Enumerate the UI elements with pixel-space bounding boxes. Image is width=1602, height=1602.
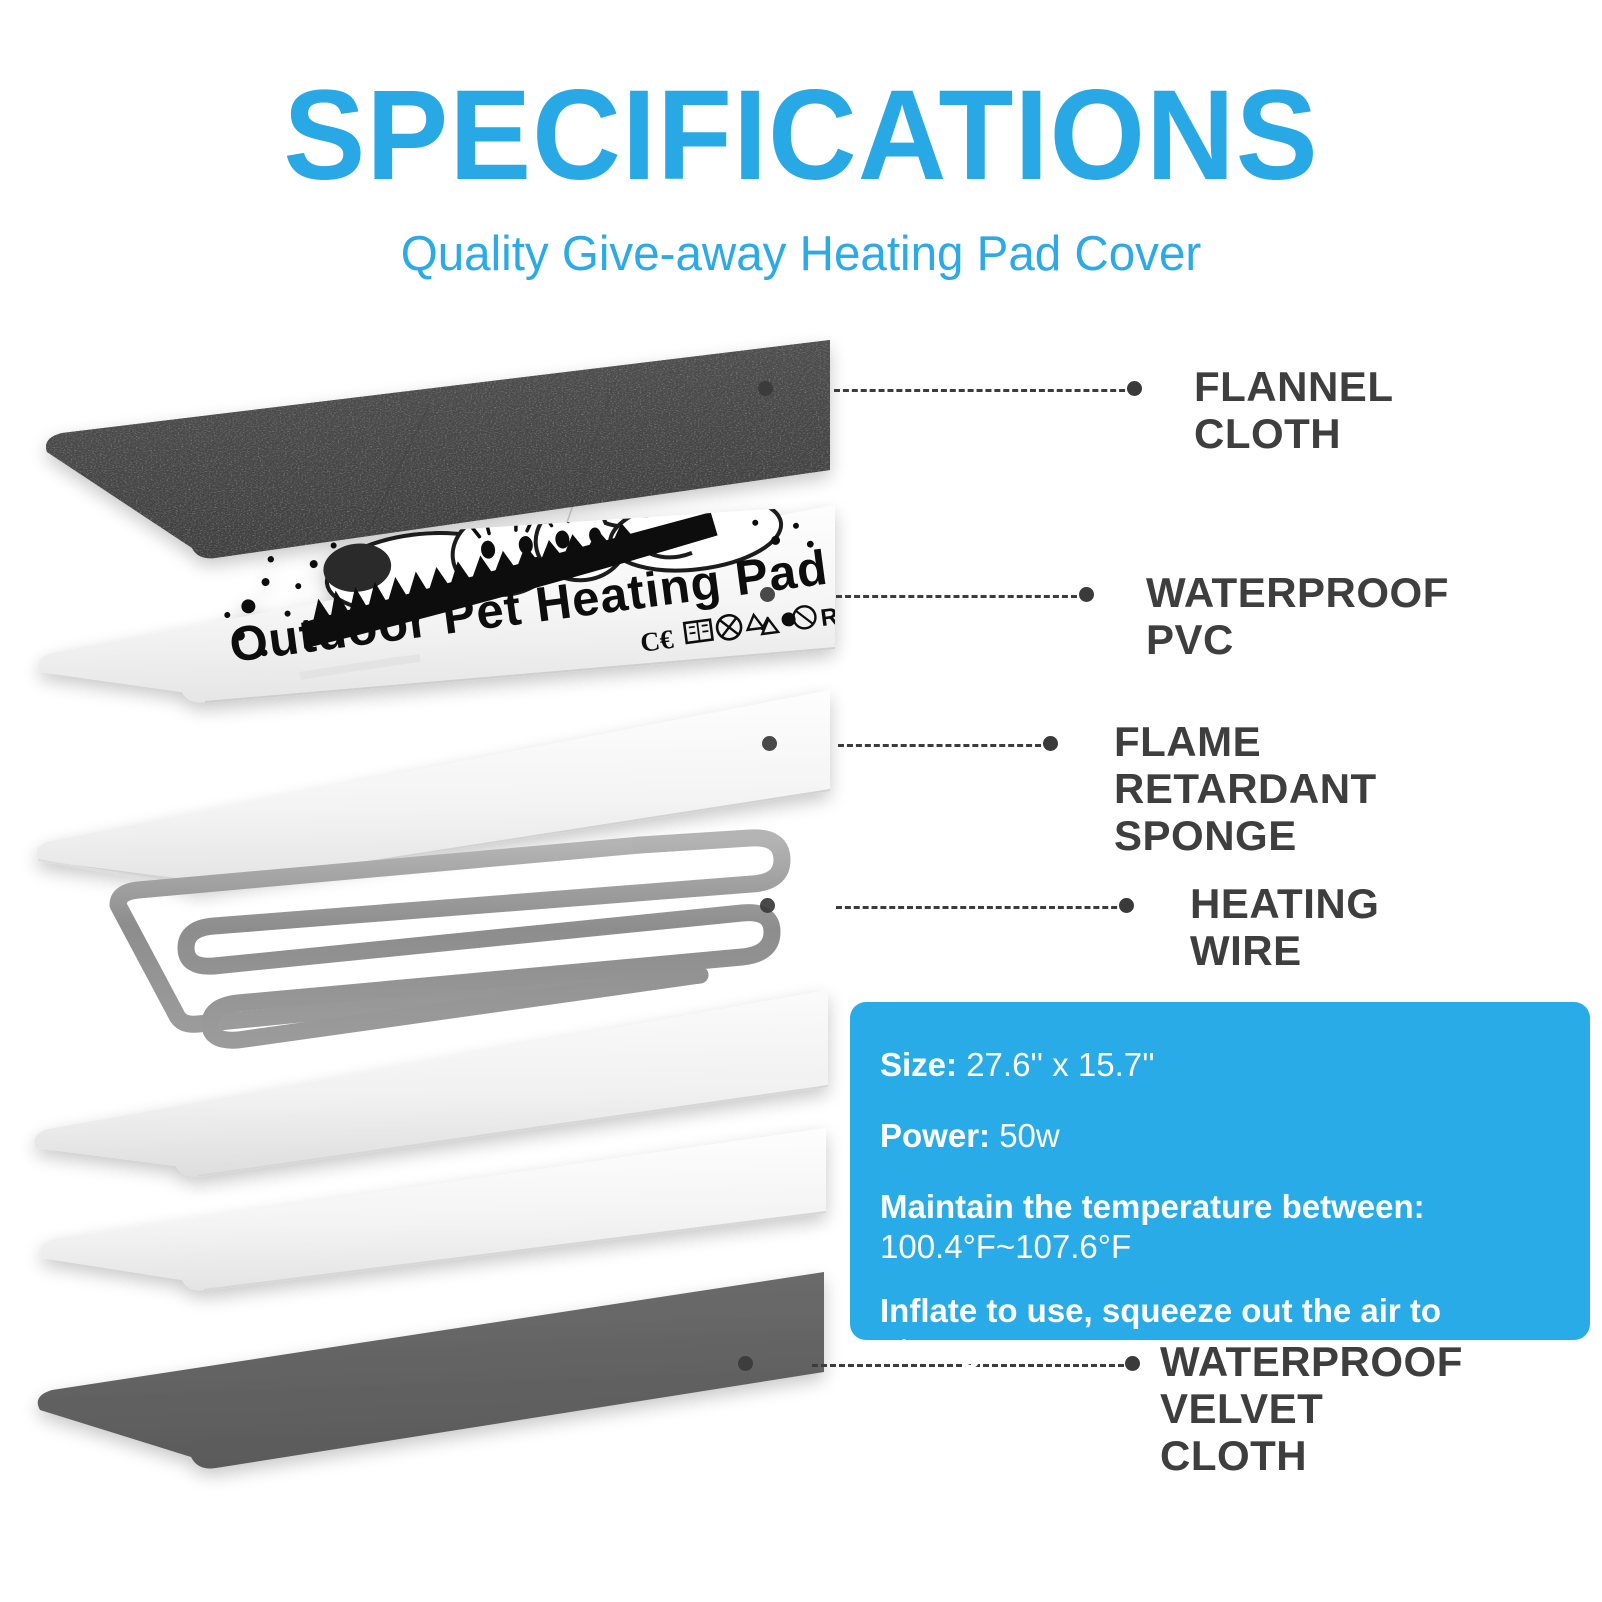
spec-size-value: 27.6'' x 15.7'' [966,1046,1155,1083]
leader-line [836,595,1086,598]
spec-power-value: 50w [999,1117,1060,1154]
leader-dot-source [758,381,773,396]
spec-size-label: Size: [880,1046,957,1083]
specification-infographic: SPECIFICATIONS Quality Give-away Heating… [0,0,1602,1602]
leader-line [838,744,1050,747]
leader-dot-end [1119,898,1134,913]
layer-waterproof-velvet-cloth [38,1272,824,1469]
leader-dot-end [1079,587,1094,602]
leader-dot-source [738,1356,753,1371]
callout-label-waterproof-pvc: WATERPROOF PVC [1146,569,1449,663]
callout-label-flame-retardant-sponge: FLAME RETARDANT SPONGE [1114,718,1377,859]
leader-dot-end [1043,736,1058,751]
leader-dot-source [760,587,775,602]
leader-dot-end [1127,381,1142,396]
svg-text:C€: C€ [638,624,675,658]
leader-dot-source [760,898,775,913]
spec-row-size: Size: 27.6'' x 15.7'' [880,1046,1560,1085]
specification-box: Size: 27.6'' x 15.7'' Power: 50w Maintai… [850,1002,1590,1340]
callout-label-flannel-cloth: FLANNEL CLOTH [1194,363,1393,457]
spec-temp-label: Maintain the temperature between: [880,1188,1560,1227]
spec-note: Inflate to use, squeeze out the air to s… [880,1292,1560,1370]
spec-row-temperature: Maintain the temperature between: 100.4°… [880,1188,1560,1267]
callout-label-heating-wire: HEATING WIRE [1190,880,1379,974]
leader-line [834,389,1134,392]
spec-temp-value: 100.4°F~107.6°F [880,1227,1560,1267]
leader-dot-source [762,736,777,751]
leader-line [836,906,1126,909]
spec-power-label: Power: [880,1117,990,1154]
spec-row-power: Power: 50w [880,1117,1560,1156]
